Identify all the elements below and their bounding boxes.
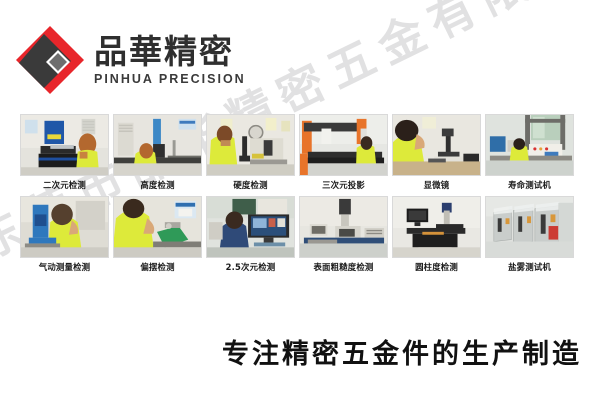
diamond-logo-icon: [14, 24, 86, 96]
gallery-item[interactable]: 盐雾测试机: [485, 196, 574, 272]
surface-roughness-tester-photo[interactable]: [299, 196, 388, 258]
promotional-banner: 东莞市品华精密五金有限公司 品華精密 PINHUA PRECISION: [0, 0, 600, 400]
cmm-three-dimensional-machine-photo[interactable]: [299, 114, 388, 176]
gallery-row-1: 二次元检测: [20, 114, 582, 190]
gallery-item-caption: 显微镜: [424, 181, 450, 190]
runout-inspection-photo[interactable]: [113, 196, 202, 258]
gallery-item-caption: 三次元投影: [322, 181, 365, 190]
gallery-item[interactable]: 气动测量检测: [20, 196, 109, 272]
gallery-item-caption: 偏摆检测: [140, 263, 174, 272]
brand-name-en: PINHUA PRECISION: [94, 72, 246, 86]
gallery-item[interactable]: 显微镜: [392, 114, 481, 190]
gallery-item-caption: 2.5次元检测: [226, 263, 276, 272]
brand-name-cn: 品華精密: [94, 34, 246, 70]
gallery-item[interactable]: 三次元投影: [299, 114, 388, 190]
gallery-item[interactable]: 二次元检测: [20, 114, 109, 190]
life-cycle-testing-machine-photo[interactable]: [485, 114, 574, 176]
gallery-item[interactable]: 高度检测: [113, 114, 202, 190]
cylindricity-tester-photo[interactable]: [392, 196, 481, 258]
two-dimensional-measuring-machine-photo[interactable]: [20, 114, 109, 176]
equipment-gallery: 二次元检测: [20, 114, 582, 278]
gallery-item-caption: 寿命测试机: [508, 181, 551, 190]
gallery-row-2: 气动测量检测: [20, 196, 582, 272]
gallery-item-caption: 高度检测: [140, 181, 174, 190]
pneumatic-measurement-photo[interactable]: [20, 196, 109, 258]
gallery-item-caption: 圆柱度检测: [415, 263, 458, 272]
brand-wordmark: 品華精密 PINHUA PRECISION: [94, 34, 246, 87]
salt-spray-test-chamber-photo[interactable]: [485, 196, 574, 258]
gallery-item[interactable]: 寿命测试机: [485, 114, 574, 190]
gallery-item-caption: 二次元检测: [43, 181, 86, 190]
height-gauge-inspection-photo[interactable]: [113, 114, 202, 176]
microscope-inspection-photo[interactable]: [392, 114, 481, 176]
hardness-tester-photo[interactable]: [206, 114, 295, 176]
gallery-item[interactable]: 圆柱度检测: [392, 196, 481, 272]
two-point-five-dimensional-measuring-photo[interactable]: [206, 196, 295, 258]
gallery-item-caption: 表面粗糙度检测: [313, 263, 373, 272]
brand-header: 品華精密 PINHUA PRECISION: [14, 22, 246, 98]
tagline: 专注精密五金件的生产制造: [222, 332, 582, 371]
gallery-item-caption: 硬度检测: [233, 181, 267, 190]
gallery-item[interactable]: 偏摆检测: [113, 196, 202, 272]
gallery-item[interactable]: 2.5次元检测: [206, 196, 295, 272]
gallery-item-caption: 气动测量检测: [39, 263, 90, 272]
gallery-item-caption: 盐雾测试机: [508, 263, 551, 272]
gallery-item[interactable]: 表面粗糙度检测: [299, 196, 388, 272]
gallery-item[interactable]: 硬度检测: [206, 114, 295, 190]
